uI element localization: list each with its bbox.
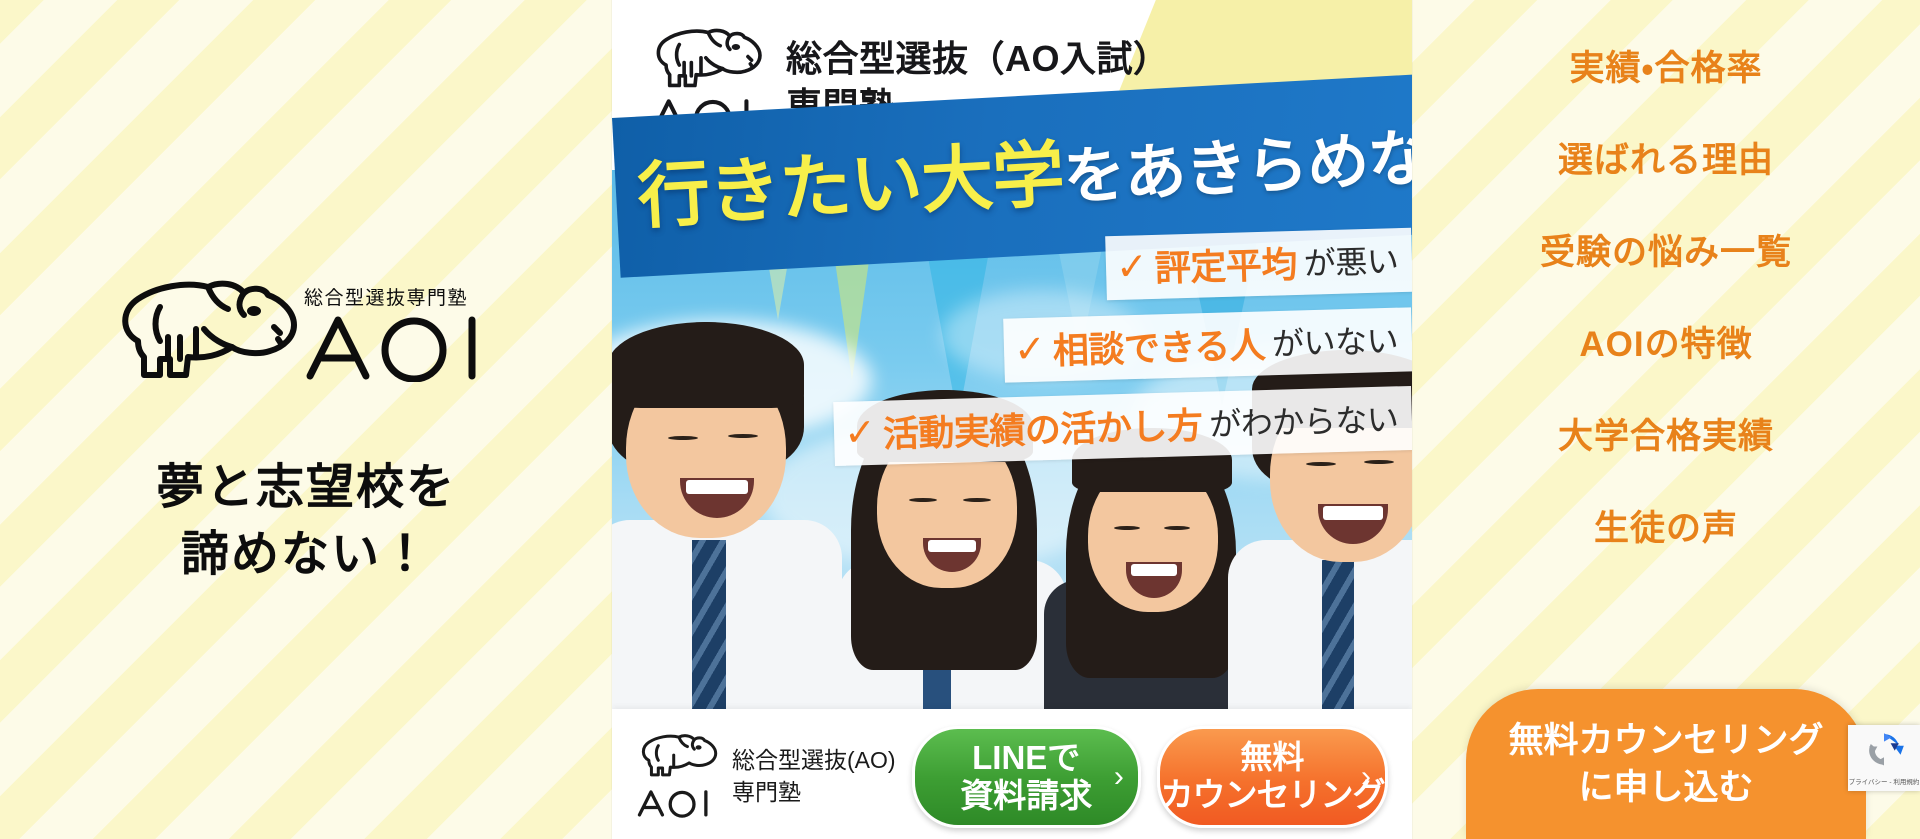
footer-brand-line-1: 総合型選抜(AO) — [732, 745, 896, 777]
line-button-line-1: LINEで — [972, 739, 1080, 777]
recaptcha-text: プライバシー - 利用規約 — [1849, 776, 1920, 786]
checklist-weak: が悪い — [1303, 236, 1399, 285]
nav-item-achievements[interactable]: 実績・合格率 — [1570, 40, 1763, 91]
apply-free-counseling-cta[interactable]: 無料カウンセリング に申し込む — [1466, 689, 1866, 839]
footer-brand[interactable]: 総合型選抜(AO) 専門塾 — [636, 730, 896, 824]
check-icon: ✓ — [1115, 247, 1148, 286]
nav-item-university-results[interactable]: 大学合格実績 — [1558, 408, 1774, 459]
brand-lockup: 総合型選抜専門塾 — [108, 271, 504, 391]
checklist-row: ✓ 相談できる人 がいない — [612, 313, 1412, 377]
banner-rest: をあきらめない！ — [1062, 117, 1412, 212]
checklist-weak: がいない — [1271, 316, 1398, 366]
cta-line-1: 無料カウンセリング — [1508, 717, 1823, 764]
checklist-row: ✓ 評定平均 が悪い — [612, 232, 1412, 296]
banner-highlight: 行きたい大学 — [636, 134, 1066, 237]
recaptcha-badge[interactable]: プライバシー - 利用規約 — [1848, 725, 1920, 791]
nav-item-aoi-features[interactable]: AOIの特徴 — [1579, 316, 1752, 367]
footer-brand-line-2: 専門塾 — [732, 777, 896, 809]
hippo-logo-icon — [108, 271, 304, 391]
left-brand-panel: 総合型選抜専門塾 夢と志望校を 諦めない！ — [0, 0, 612, 839]
counsel-button-line-2: カウンセリング — [1160, 776, 1384, 814]
nav-item-student-voices[interactable]: 生徒の声 — [1594, 500, 1738, 551]
right-nav-panel: 実績・合格率 選ばれる理由 受験の悩み一覧 AOIの特徴 大学合格実績 生徒の声… — [1412, 0, 1920, 839]
hero-sticky-footer: 総合型選抜(AO) 専門塾 LINEで 資料請求 › 無料 カウンセリング › — [612, 709, 1412, 839]
chevron-right-icon: › — [1114, 759, 1124, 794]
nav-item-exam-concerns[interactable]: 受験の悩み一覧 — [1540, 224, 1792, 275]
tagline-line-2: 諦めない！ — [156, 522, 456, 588]
checklist-strong: 評定平均 — [1154, 236, 1297, 292]
checklist-strong: 活動実績の活かし方 — [882, 397, 1203, 458]
brand-wordmark-aoi — [304, 312, 504, 387]
free-counseling-button[interactable]: 無料 カウンセリング › — [1157, 726, 1388, 828]
left-tagline: 夢と志望校を 諦めない！ — [156, 455, 456, 587]
footer-brand-text: 総合型選抜(AO) 専門塾 — [732, 745, 896, 808]
hero-checklist: ✓ 評定平均 が悪い ✓ 相談できる人 がいない ✓ 活動実績の活かし方 がわか… — [612, 232, 1412, 475]
line-button-line-2: 資料請求 — [960, 777, 1092, 815]
checklist-strong: 相談できる人 — [1052, 316, 1266, 374]
tagline-line-1: 夢と志望校を — [156, 455, 456, 521]
hero-title-line-1: 総合型選抜（AO入試） — [786, 36, 1170, 83]
check-icon: ✓ — [843, 413, 876, 452]
recaptcha-icon — [1864, 730, 1904, 773]
hippo-logo-icon — [636, 730, 720, 787]
checklist-row: ✓ 活動実績の活かし方 がわからない — [612, 394, 1412, 458]
brand-kicker: 総合型選抜専門塾 — [304, 283, 468, 310]
brand-wordmark-aoi — [637, 787, 719, 824]
hippo-logo-icon — [648, 22, 766, 101]
checklist-weak: がわからない — [1208, 394, 1398, 445]
cta-line-2: に申し込む — [1578, 764, 1753, 811]
check-icon: ✓ — [1013, 330, 1046, 369]
chevron-right-icon: › — [1361, 759, 1371, 794]
hero-mockup: 総合型選抜（AO入試） 専門塾 — [612, 0, 1412, 839]
counsel-button-line-1: 無料 — [1240, 739, 1304, 776]
nav-item-reasons-chosen[interactable]: 選ばれる理由 — [1558, 132, 1774, 183]
line-document-request-button[interactable]: LINEで 資料請求 › — [912, 726, 1141, 828]
